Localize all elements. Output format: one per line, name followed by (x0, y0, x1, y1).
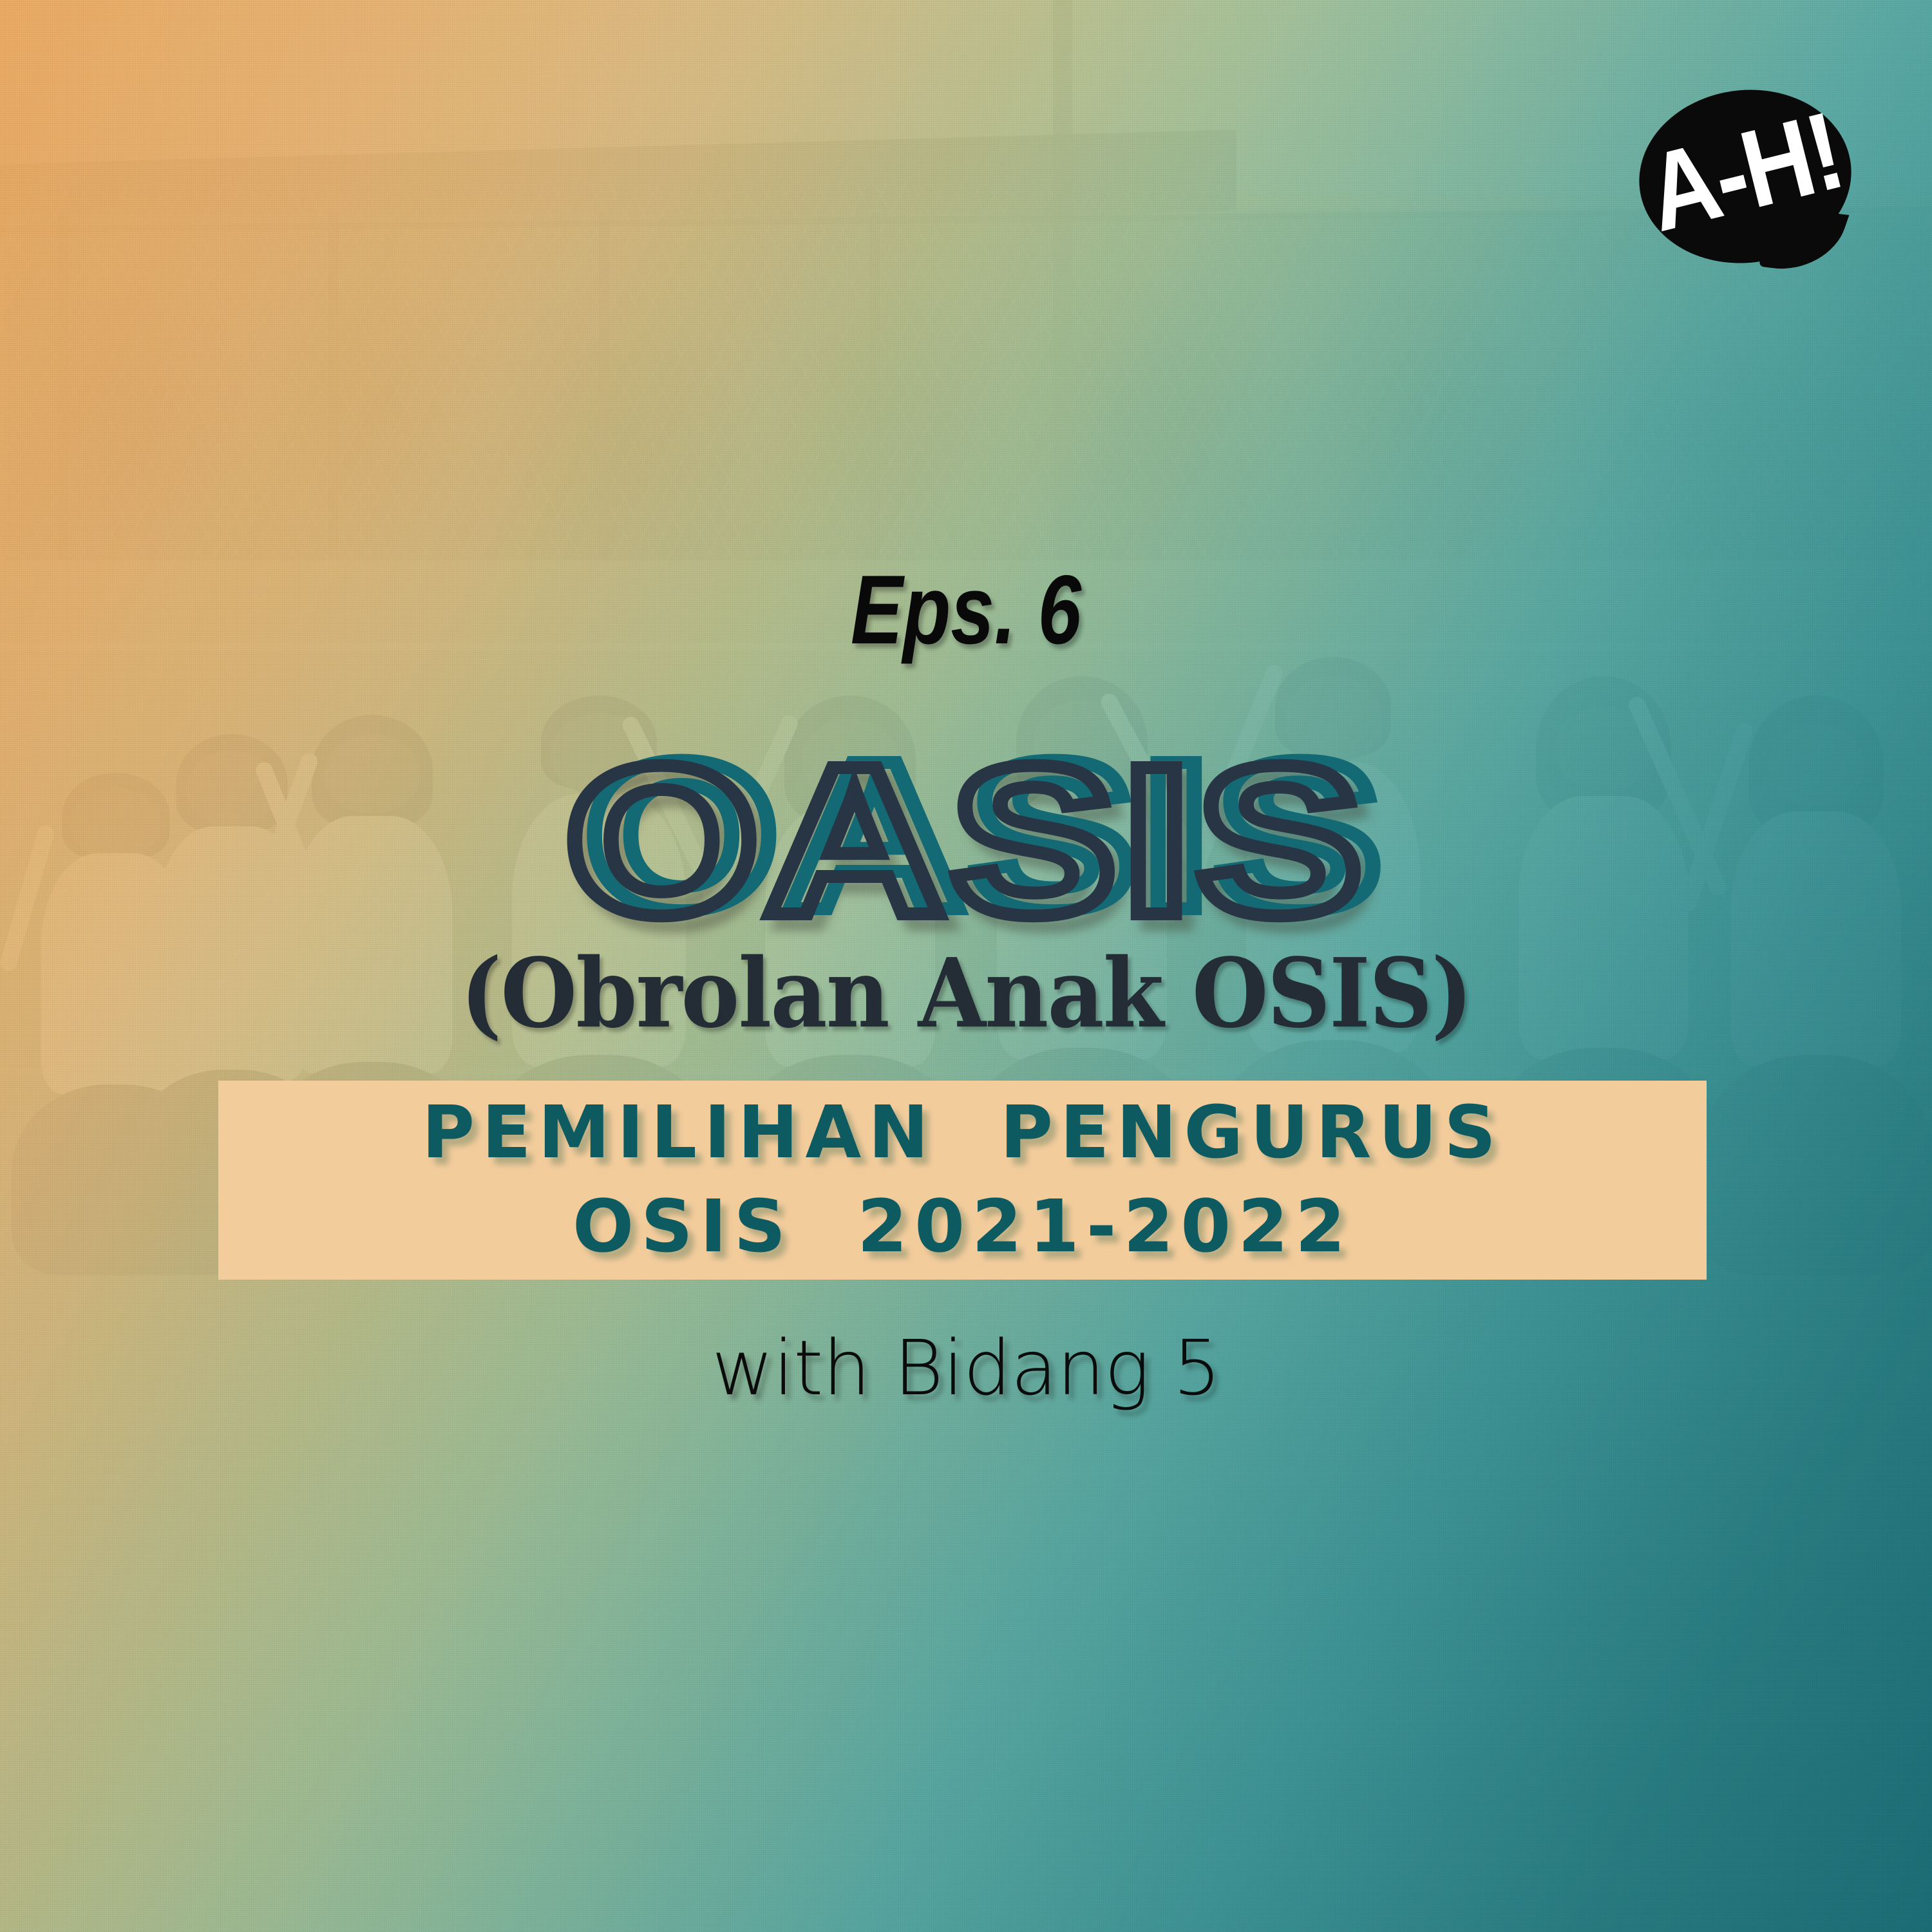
episode-title-line-1: PEMILIHAN PENGURUS (422, 1086, 1503, 1180)
guest-label: with Bidang 5 (0, 1323, 1932, 1412)
episode-label: Eps. 6 (193, 554, 1739, 667)
show-title: OASIS (0, 734, 1932, 947)
content-stack: Eps. 6 OASIS OASIS OASIS (Obrolan Anak O… (0, 0, 1932, 1932)
show-title-group: OASIS OASIS OASIS (0, 734, 1932, 966)
episode-title-line-2: OSIS 2021-2022 (573, 1180, 1352, 1274)
show-subtitle: (Obrolan Anak OSIS) (77, 937, 1855, 1049)
episode-title-banner: PEMILIHAN PENGURUS OSIS 2021-2022 (218, 1081, 1707, 1280)
podcast-cover-poster: A-H! Eps. 6 OASIS OASIS OASIS (Obrolan A… (0, 0, 1932, 1932)
